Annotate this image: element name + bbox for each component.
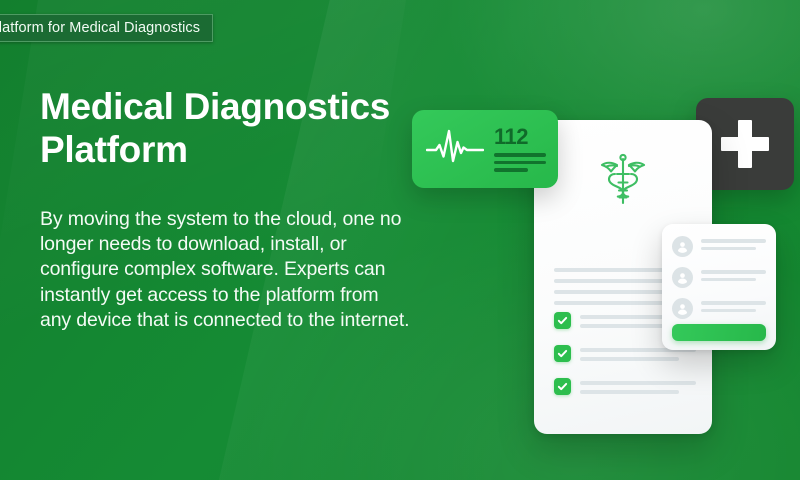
contact-list-item[interactable] <box>672 236 766 257</box>
page-tooltip-label: Platform for Medical Diagnostics <box>0 14 213 42</box>
placeholder-line <box>580 381 696 385</box>
vitals-value: 112 <box>494 126 546 148</box>
contact-placeholder-lines <box>701 270 766 285</box>
hero-copy: Medical Diagnostics Platform By moving t… <box>40 86 412 333</box>
checkbox-checked[interactable] <box>554 312 571 329</box>
ecg-heartbeat-icon <box>426 127 484 172</box>
hero-illustration: 112 <box>400 60 800 420</box>
placeholder-line <box>701 239 766 243</box>
placeholder-line <box>580 390 679 394</box>
vitals-readout: 112 <box>494 126 546 172</box>
contact-placeholder-lines <box>701 301 766 316</box>
checkbox-checked[interactable] <box>554 345 571 362</box>
placeholder-line <box>701 301 766 305</box>
placeholder-bar <box>494 153 546 157</box>
hero-body-text: By moving the system to the cloud, one n… <box>40 207 412 333</box>
contacts-card <box>662 224 776 350</box>
contact-placeholder-lines <box>701 239 766 254</box>
medical-plus-icon <box>721 120 769 168</box>
checkbox-checked[interactable] <box>554 378 571 395</box>
placeholder-line <box>580 357 679 361</box>
contacts-action-button[interactable] <box>672 324 766 341</box>
placeholder-bar <box>494 161 546 165</box>
contact-list-item[interactable] <box>672 267 766 288</box>
user-avatar-icon <box>672 267 693 288</box>
page-tooltip-text: Platform for Medical Diagnostics <box>0 20 200 36</box>
placeholder-line <box>701 270 766 274</box>
placeholder-line <box>701 309 756 313</box>
placeholder-bar <box>494 168 528 172</box>
checklist-item[interactable] <box>554 378 696 399</box>
vitals-placeholder-bars <box>494 153 546 172</box>
user-avatar-icon <box>672 236 693 257</box>
checklist-item-lines <box>580 378 696 399</box>
user-avatar-icon <box>672 298 693 319</box>
page-title: Medical Diagnostics Platform <box>40 86 412 171</box>
caduceus-icon <box>597 152 649 215</box>
vitals-card: 112 <box>412 110 558 188</box>
placeholder-line <box>554 301 671 305</box>
contact-list-item[interactable] <box>672 298 766 319</box>
placeholder-line <box>701 278 756 282</box>
placeholder-line <box>701 247 756 251</box>
